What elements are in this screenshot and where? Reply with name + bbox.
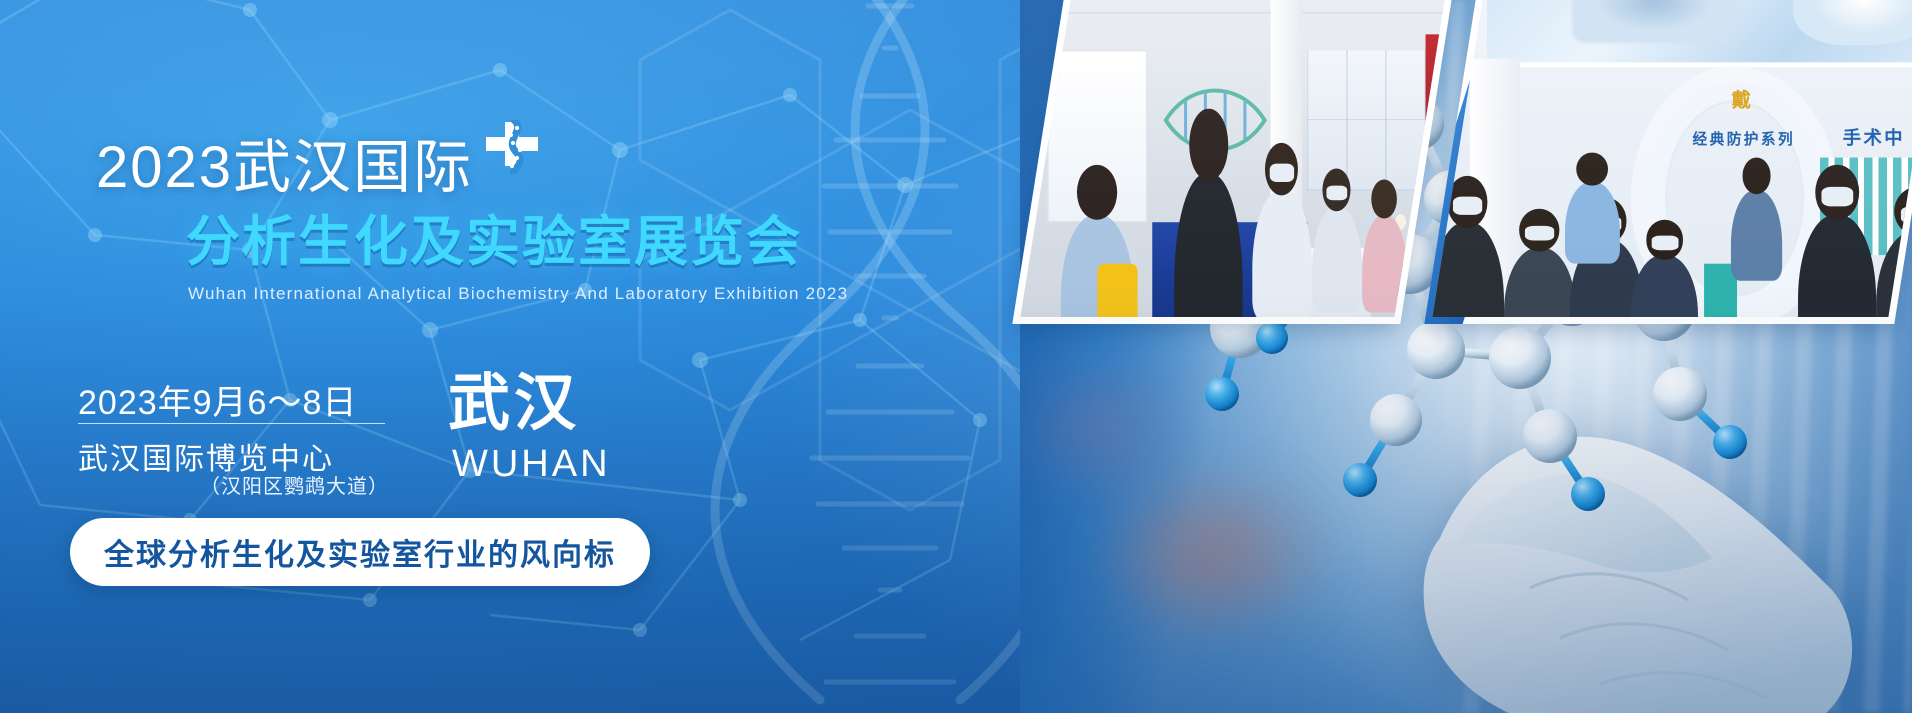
staff-figure bbox=[1252, 190, 1311, 317]
slogan-text: 全球分析生化及实验室行业的风向标 bbox=[104, 530, 616, 574]
city-name-cn: 武汉 bbox=[448, 373, 580, 435]
headline-main: 2023武汉国际 bbox=[96, 139, 473, 197]
headline-english: Wuhan International Analytical Biochemis… bbox=[188, 284, 848, 304]
banner-copy-block: 2023武汉国际 分析生化及实验室展览会 Wuhan International… bbox=[0, 0, 1020, 713]
booth-photo-content bbox=[1020, 0, 1447, 317]
staff-figure bbox=[1312, 206, 1362, 313]
divider-rule bbox=[78, 423, 385, 424]
medical-cross-dna-icon bbox=[484, 120, 540, 174]
event-venue-address: （汉阳区鹦鹉大道） bbox=[200, 470, 389, 499]
exhibition-booth-photo bbox=[1012, 0, 1455, 324]
visitor-figure bbox=[1565, 182, 1621, 264]
booth-brand-label: 戴 bbox=[1731, 83, 1753, 112]
event-date: 2023年9月6～8日 bbox=[78, 375, 357, 424]
visitor-figure bbox=[1731, 190, 1781, 280]
yellow-bag bbox=[1097, 264, 1138, 317]
booth-series-label: 经典防护系列 bbox=[1693, 128, 1795, 149]
exhibition-banner: 戴 经典防护系列 手术中 bbox=[0, 0, 1912, 713]
city-name-en: WUHAN bbox=[452, 445, 611, 483]
booth-surgery-label: 手术中 bbox=[1843, 124, 1905, 150]
slogan-pill: 全球分析生化及实验室行业的风向标 bbox=[70, 518, 650, 586]
headline-sub: 分析生化及实验室展览会 bbox=[186, 215, 802, 269]
protection-booth-photo-content: 戴 经典防护系列 手术中 bbox=[1432, 0, 1912, 317]
visitor-figure bbox=[1175, 174, 1243, 317]
medical-protection-booth-photo: 戴 经典防护系列 手术中 bbox=[1424, 0, 1912, 324]
